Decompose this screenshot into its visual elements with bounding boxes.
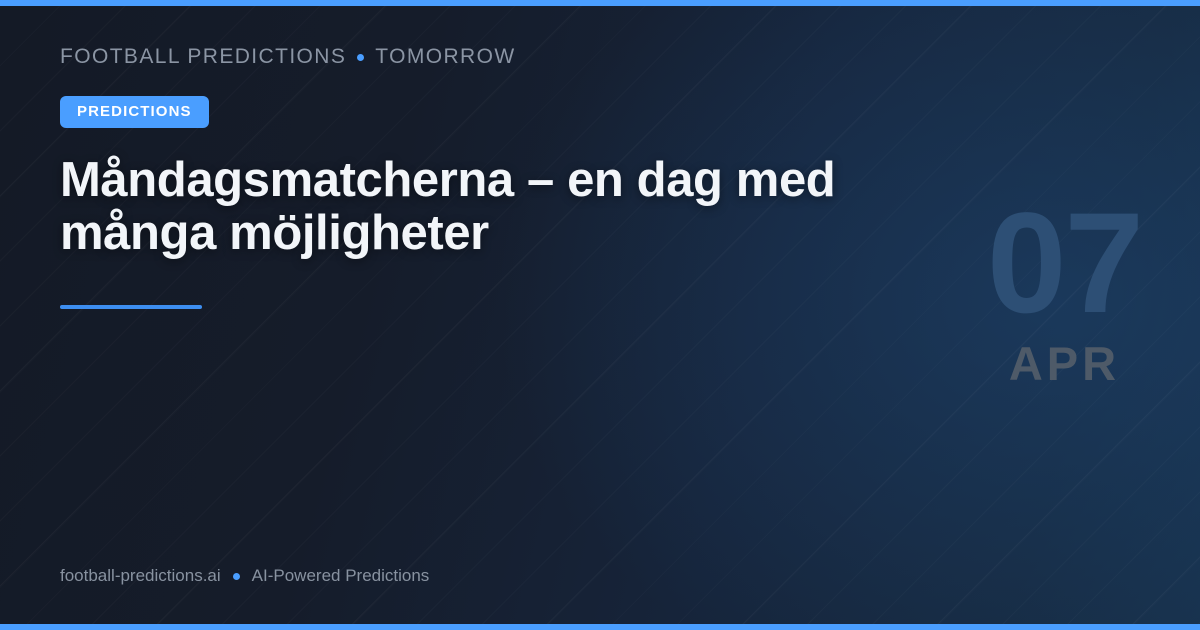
footer-tagline-label: AI-Powered Predictions bbox=[252, 566, 430, 586]
social-share-card: 07 APR FOOTBALL PREDICTIONS TOMORROW PRE… bbox=[0, 0, 1200, 630]
card-content: FOOTBALL PREDICTIONS TOMORROW PREDICTION… bbox=[60, 40, 960, 309]
top-accent-bar bbox=[0, 0, 1200, 6]
kicker: FOOTBALL PREDICTIONS TOMORROW bbox=[60, 40, 960, 74]
date-day: 07 bbox=[987, 205, 1142, 322]
bullet-dot-icon bbox=[357, 54, 364, 61]
bottom-accent-bar bbox=[0, 624, 1200, 630]
footer: football-predictions.ai AI-Powered Predi… bbox=[60, 566, 429, 586]
footer-site-label: football-predictions.ai bbox=[60, 566, 221, 586]
date-display: 07 APR bbox=[987, 205, 1142, 387]
bullet-dot-icon bbox=[233, 573, 240, 580]
status-badge: PREDICTIONS bbox=[60, 96, 209, 128]
kicker-primary-label: FOOTBALL PREDICTIONS bbox=[60, 45, 346, 69]
date-month: APR bbox=[987, 340, 1142, 387]
accent-rule-divider bbox=[60, 305, 202, 309]
page-title: Måndagsmatcherna – en dag med många möjl… bbox=[60, 154, 940, 260]
kicker-secondary-label: TOMORROW bbox=[375, 45, 515, 69]
